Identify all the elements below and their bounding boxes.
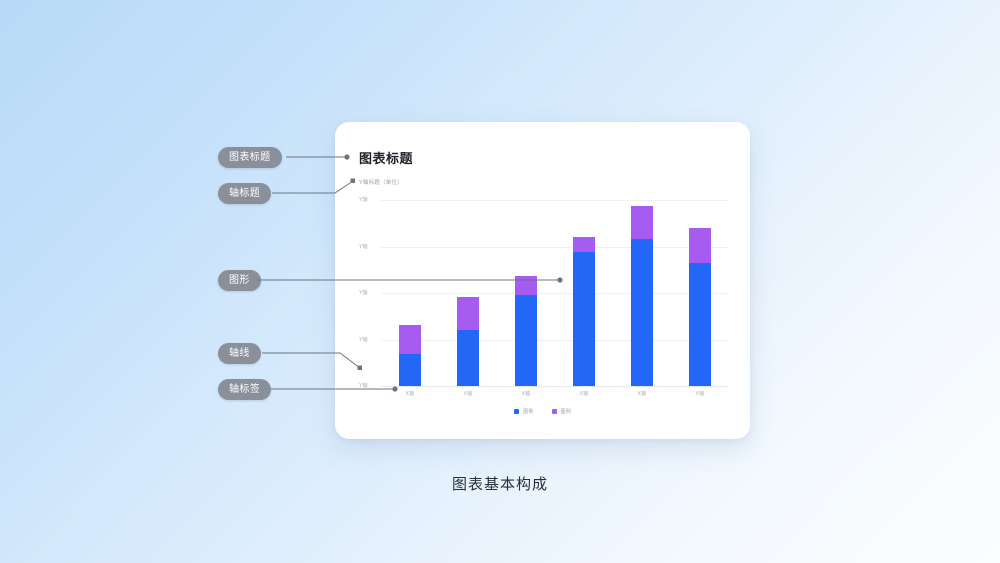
leader-lines <box>0 0 1000 563</box>
